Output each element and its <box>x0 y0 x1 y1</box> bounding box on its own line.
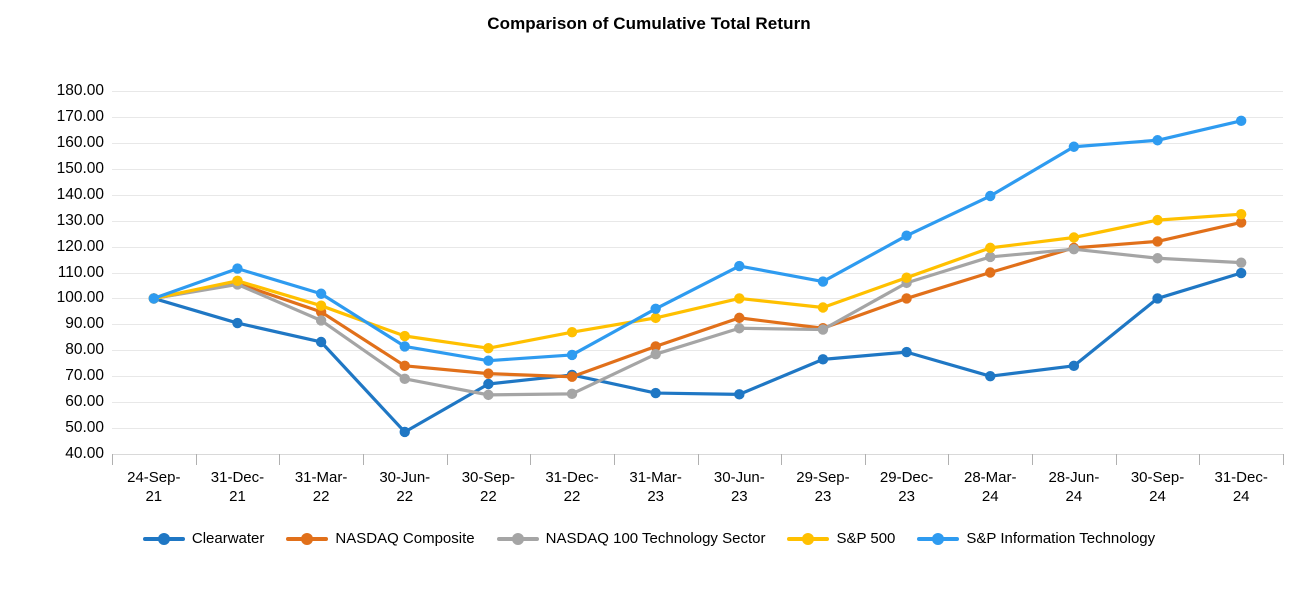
data-point[interactable] <box>149 293 159 303</box>
x-axis-label: 30-Sep- 24 <box>1116 468 1200 506</box>
data-point[interactable] <box>1069 244 1079 254</box>
legend-color-swatch <box>787 533 829 545</box>
data-point[interactable] <box>400 374 410 384</box>
legend-item[interactable]: S&P Information Technology <box>917 530 1155 547</box>
legend-item[interactable]: Clearwater <box>143 530 265 547</box>
chart-root: Comparison of Cumulative Total Return 40… <box>0 0 1298 600</box>
x-axis-label: 31-Mar- 23 <box>614 468 698 506</box>
data-point[interactable] <box>1069 142 1079 152</box>
x-axis-label: 31-Dec- 24 <box>1199 468 1283 506</box>
series-line <box>154 214 1241 348</box>
data-point[interactable] <box>483 368 493 378</box>
data-point[interactable] <box>1152 253 1162 263</box>
legend-item[interactable]: NASDAQ 100 Technology Sector <box>497 530 766 547</box>
x-axis-label: 30-Jun- 22 <box>363 468 447 506</box>
legend-color-swatch <box>143 533 185 545</box>
data-point[interactable] <box>316 337 326 347</box>
legend-label: S&P Information Technology <box>966 530 1155 547</box>
data-point[interactable] <box>818 324 828 334</box>
data-point[interactable] <box>567 327 577 337</box>
data-point[interactable] <box>1236 116 1246 126</box>
data-point[interactable] <box>734 389 744 399</box>
data-point[interactable] <box>1069 232 1079 242</box>
x-axis-label: 28-Mar- 24 <box>948 468 1032 506</box>
data-point[interactable] <box>985 252 995 262</box>
x-axis-label: 30-Sep- 22 <box>447 468 531 506</box>
data-point[interactable] <box>1152 135 1162 145</box>
x-axis-label: 24-Sep- 21 <box>112 468 196 506</box>
x-axis-label: 31-Dec- 21 <box>196 468 280 506</box>
data-point[interactable] <box>734 261 744 271</box>
data-point[interactable] <box>483 390 493 400</box>
data-point[interactable] <box>567 372 577 382</box>
data-point[interactable] <box>483 343 493 353</box>
plot-area: 40.0050.0060.0070.0080.0090.00100.00110.… <box>0 0 1298 600</box>
data-point[interactable] <box>985 371 995 381</box>
x-axis-label: 31-Mar- 22 <box>279 468 363 506</box>
data-point[interactable] <box>1236 268 1246 278</box>
legend-color-swatch <box>286 533 328 545</box>
data-point[interactable] <box>650 313 660 323</box>
data-point[interactable] <box>901 293 911 303</box>
x-axis-label: 30-Jun- 23 <box>698 468 782 506</box>
data-point[interactable] <box>483 355 493 365</box>
x-axis-label: 29-Sep- 23 <box>781 468 865 506</box>
data-point[interactable] <box>1069 361 1079 371</box>
data-point[interactable] <box>483 379 493 389</box>
data-point[interactable] <box>1236 209 1246 219</box>
data-point[interactable] <box>985 191 995 201</box>
series-layer <box>0 0 1298 600</box>
data-point[interactable] <box>650 388 660 398</box>
data-point[interactable] <box>316 300 326 310</box>
x-axis-label: 29-Dec- 23 <box>865 468 949 506</box>
legend-color-swatch <box>497 533 539 545</box>
series-line <box>154 121 1241 361</box>
data-point[interactable] <box>901 230 911 240</box>
series-clearwater <box>149 268 1247 437</box>
data-point[interactable] <box>232 263 242 273</box>
series-s-p-information-technology <box>149 116 1247 366</box>
data-point[interactable] <box>1236 257 1246 267</box>
legend-label: NASDAQ Composite <box>335 530 474 547</box>
legend-label: Clearwater <box>192 530 265 547</box>
data-point[interactable] <box>400 427 410 437</box>
data-point[interactable] <box>734 323 744 333</box>
data-point[interactable] <box>650 349 660 359</box>
data-point[interactable] <box>734 293 744 303</box>
legend-color-swatch <box>917 533 959 545</box>
data-point[interactable] <box>400 331 410 341</box>
data-point[interactable] <box>901 272 911 282</box>
data-point[interactable] <box>567 389 577 399</box>
legend-label: NASDAQ 100 Technology Sector <box>546 530 766 547</box>
series-nasdaq-composite <box>149 217 1247 382</box>
data-point[interactable] <box>232 318 242 328</box>
data-point[interactable] <box>400 341 410 351</box>
data-point[interactable] <box>316 289 326 299</box>
series-line <box>154 273 1241 432</box>
data-point[interactable] <box>734 313 744 323</box>
data-point[interactable] <box>1152 293 1162 303</box>
data-point[interactable] <box>818 276 828 286</box>
legend-item[interactable]: S&P 500 <box>787 530 895 547</box>
chart-legend: ClearwaterNASDAQ CompositeNASDAQ 100 Tec… <box>0 530 1298 547</box>
x-axis-label: 31-Dec- 22 <box>530 468 614 506</box>
data-point[interactable] <box>818 354 828 364</box>
data-point[interactable] <box>232 276 242 286</box>
data-point[interactable] <box>567 350 577 360</box>
data-point[interactable] <box>316 315 326 325</box>
data-point[interactable] <box>650 304 660 314</box>
data-point[interactable] <box>1152 236 1162 246</box>
x-axis-label: 28-Jun- 24 <box>1032 468 1116 506</box>
data-point[interactable] <box>901 347 911 357</box>
data-point[interactable] <box>400 361 410 371</box>
series-nasdaq-100-technology-sector <box>149 244 1247 400</box>
data-point[interactable] <box>985 243 995 253</box>
data-point[interactable] <box>1152 215 1162 225</box>
data-point[interactable] <box>985 267 995 277</box>
data-point[interactable] <box>818 302 828 312</box>
legend-item[interactable]: NASDAQ Composite <box>286 530 474 547</box>
legend-label: S&P 500 <box>836 530 895 547</box>
